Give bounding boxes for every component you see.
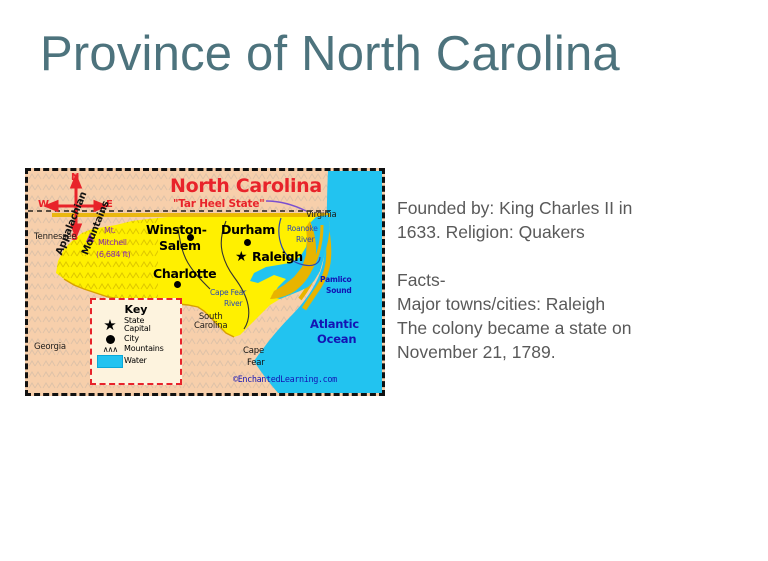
dot-icon [96, 335, 124, 344]
map-image: North Carolina "Tar Heel State" N S W E … [25, 168, 385, 396]
city-dot-charlotte [174, 281, 181, 288]
compass-west-label: W [38, 200, 49, 210]
map-canvas: North Carolina "Tar Heel State" N S W E … [28, 171, 382, 393]
map-city-raleigh: Raleigh [252, 251, 303, 264]
fact-line-founded-1: Founded by: King Charles II in [397, 196, 727, 220]
map-city-durham: Durham [221, 224, 275, 237]
map-water-pamlico: Pamlico [320, 276, 352, 284]
map-city-salem: Salem [159, 240, 201, 253]
facts-text-block: Founded by: King Charles II in 1633. Rel… [397, 196, 727, 364]
map-state-nickname: "Tar Heel State" [173, 199, 265, 210]
text-spacer [397, 244, 727, 268]
map-cape-fear-fear: Fear [247, 359, 265, 368]
map-peak-elevation: (6,684 ft) [96, 251, 131, 259]
legend-label-water: Water [124, 357, 147, 365]
map-water-sound: Sound [326, 287, 352, 295]
map-river-cape-fear-suffix: River [224, 300, 242, 308]
compass-north-label: N [71, 173, 79, 183]
map-cape-fear-cape: Cape [243, 347, 264, 356]
fact-line-founded-2: 1633. Religion: Quakers [397, 220, 727, 244]
legend-label-city: City [124, 335, 139, 343]
map-city-winston: Winston- [146, 224, 207, 237]
map-river-roanoke: Roanoke [287, 225, 318, 233]
map-peak-mt: Mt. [104, 227, 116, 235]
map-water-atlantic: Atlantic [310, 319, 359, 331]
fact-line-statehood-1: The colony became a state on [397, 316, 727, 340]
neighbor-state-georgia: Georgia [34, 343, 66, 352]
legend-item-water: Water [92, 355, 180, 368]
map-legend: Key ★ StateCapital City ∧∧∧ Mountains [90, 298, 182, 385]
page-title: Province of North Carolina [40, 26, 620, 82]
legend-item-state-capital: ★ StateCapital [92, 317, 180, 334]
fact-line-facts-heading: Facts- [397, 268, 727, 292]
city-dot-durham [244, 239, 251, 246]
city-dot-winston-salem [187, 234, 194, 241]
map-river-cape-fear: Cape Fear [210, 289, 246, 297]
mountains-icon: ∧∧∧ [96, 345, 124, 354]
state-capital-star-icon: ★ [235, 249, 248, 263]
map-state-title: North Carolina [170, 177, 322, 196]
map-water-ocean: Ocean [317, 334, 356, 346]
star-icon: ★ [96, 318, 124, 333]
legend-item-mountains: ∧∧∧ Mountains [92, 345, 180, 354]
legend-label-mountains: Mountains [124, 345, 164, 353]
map-river-roanoke-suffix: River [296, 236, 314, 244]
legend-title: Key [92, 303, 180, 316]
water-swatch-icon [96, 355, 124, 368]
legend-item-city: City [92, 335, 180, 344]
map-peak-mitchell: Mitchell [98, 239, 127, 247]
neighbor-state-south-carolina: SouthCarolina [194, 313, 227, 332]
legend-label-state-capital: StateCapital [124, 317, 151, 334]
fact-line-statehood-2: November 21, 1789. [397, 340, 727, 364]
map-city-charlotte: Charlotte [153, 268, 216, 281]
neighbor-state-virginia: Virginia [306, 211, 336, 220]
fact-line-major-cities: Major towns/cities: Raleigh [397, 292, 727, 316]
map-credit-watermark: ©EnchantedLearning.com [233, 376, 337, 385]
